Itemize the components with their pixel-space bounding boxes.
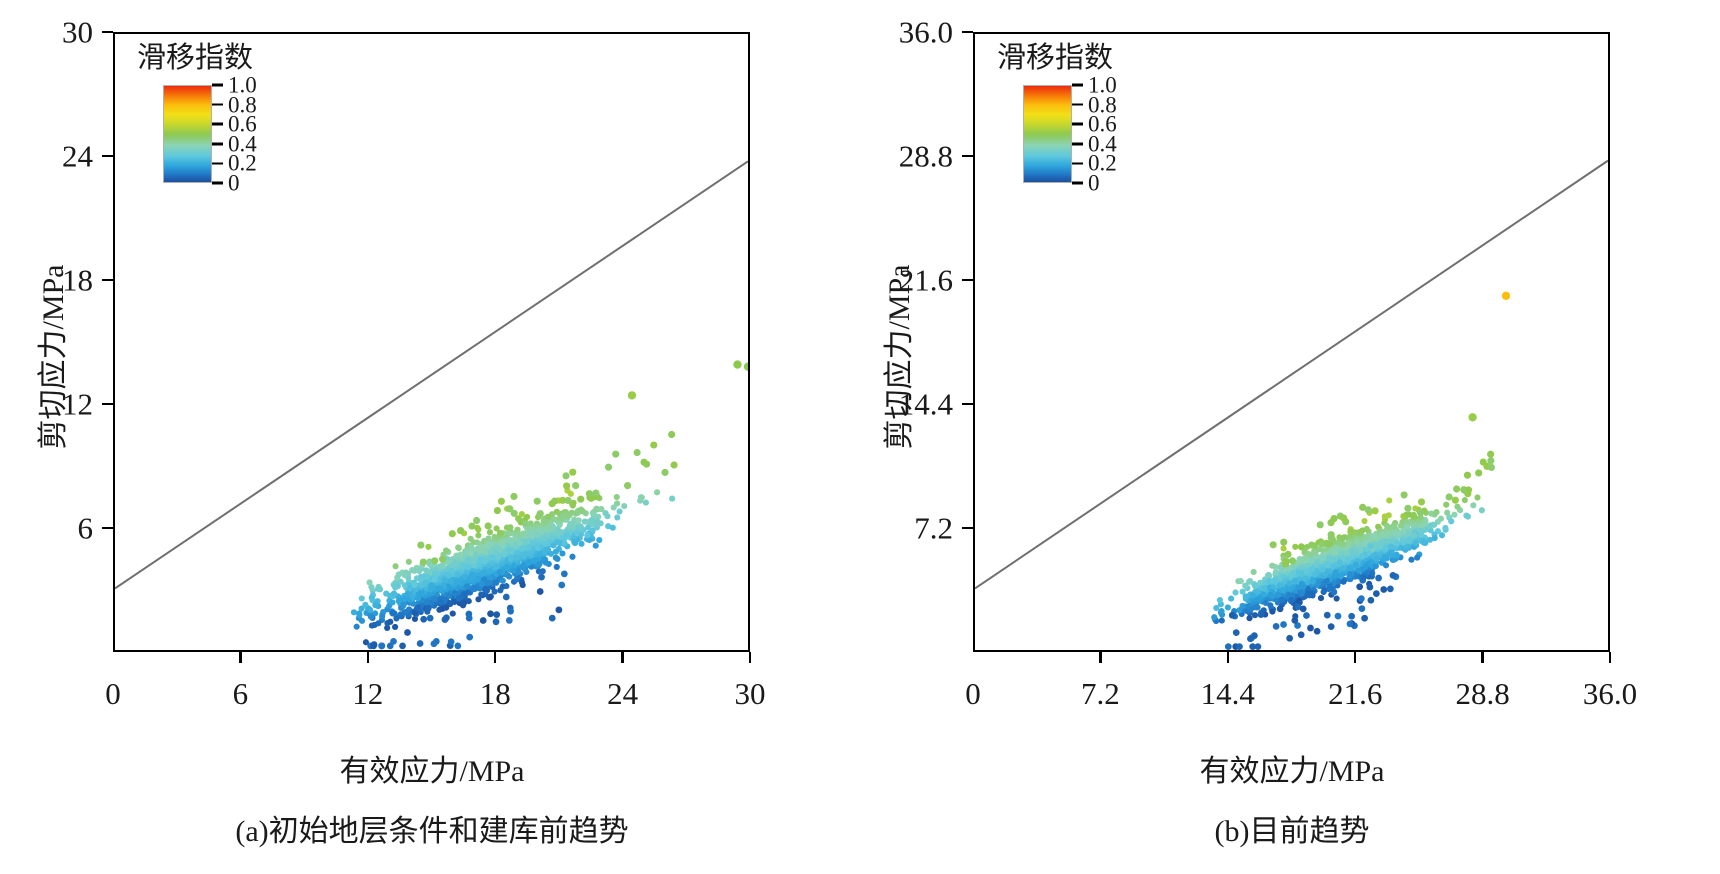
data-point [431,557,438,564]
colorbar-legend-a: 滑移指数 1.00.80.60.40.20 [133,44,343,183]
data-point [513,544,519,550]
data-point [577,496,584,503]
panel-b: 7.214.421.628.836.007.214.421.628.836.0 … [860,0,1720,874]
data-point [497,587,503,593]
data-point [475,526,481,532]
reference-line [115,161,748,588]
data-point [537,510,544,517]
data-point [549,500,556,507]
data-point [1252,604,1258,610]
data-point [569,469,576,476]
data-point [519,511,525,517]
data-point [1373,556,1379,562]
data-point [560,513,566,519]
colorbar-tick-mark [1072,84,1083,87]
data-point [1348,528,1354,534]
data-point [406,559,412,565]
x-tick-label: 0 [965,678,981,709]
data-point [404,629,411,636]
data-point [1367,584,1374,591]
data-point [478,556,484,562]
colorbar-tick-mark [212,123,223,126]
data-point [1385,530,1391,536]
data-point [1240,589,1246,595]
data-point [671,461,678,468]
data-point [605,464,612,471]
data-point [617,508,623,514]
data-point [540,568,546,574]
data-point [1432,535,1438,541]
data-point [1470,502,1476,508]
reference-line [975,161,1608,589]
data-point [369,595,375,601]
data-point [508,556,514,562]
data-point [389,610,396,617]
data-point [1270,541,1277,548]
x-tick-mark [1227,652,1230,663]
data-point [1285,592,1291,598]
data-point [1312,550,1318,556]
data-point [1332,549,1338,555]
x-tick-mark [621,652,624,663]
data-point [1229,612,1236,619]
data-point [598,506,604,512]
data-point [1252,612,1258,618]
data-point [1383,562,1389,568]
data-point [563,482,570,489]
data-point [427,615,434,622]
data-point [1359,577,1366,584]
data-point [497,530,504,537]
colorbar-wrap: 1.00.80.60.40.20 [993,85,1203,183]
data-point [1302,576,1308,582]
data-point [1305,590,1312,597]
data-point [1451,512,1457,518]
data-point [455,544,461,550]
data-point [417,542,424,549]
colorbar-wrap: 1.00.80.60.40.20 [133,85,343,183]
data-point [483,587,490,594]
outlier-point [733,360,741,368]
data-point [504,564,510,570]
data-point [1252,583,1258,589]
data-point [1305,551,1311,557]
data-point [443,605,449,611]
data-point [1332,556,1338,562]
data-point [621,503,627,509]
data-point [1228,596,1234,602]
data-point [1356,583,1363,590]
data-point [1487,451,1494,458]
data-point [391,590,397,596]
data-point [546,524,552,530]
data-point [464,583,470,589]
data-point [478,591,484,597]
colorbar-ticks: 1.00.80.60.40.20 [1072,85,1172,183]
data-point [1341,565,1347,571]
data-point [1335,613,1342,620]
data-point [398,611,404,617]
data-point [1236,643,1243,650]
data-point [443,614,450,621]
data-point [1288,597,1294,603]
data-point [1298,543,1305,550]
data-point [1386,497,1392,503]
data-point [1337,560,1343,566]
data-point [1346,539,1352,545]
data-point [1353,562,1359,568]
data-point [1405,531,1411,537]
data-point [1317,521,1324,528]
data-point [506,505,513,512]
data-point [594,520,600,526]
data-point [1286,580,1292,586]
data-point [570,525,576,531]
data-point [475,532,481,538]
data-point [481,569,487,575]
data-point [368,614,374,620]
data-point [389,599,395,605]
data-point [1392,530,1398,536]
data-point [1211,614,1217,620]
data-point [1488,464,1495,471]
data-point [1330,515,1337,522]
data-point [370,643,377,650]
y-tick-mark [962,31,973,34]
data-point [1442,525,1448,531]
data-point [1282,558,1289,565]
data-point [1439,532,1445,538]
data-point [1246,615,1252,621]
data-point [430,585,436,591]
data-point [390,638,397,645]
data-point [582,519,588,525]
figure-root: 6121824300612182430 滑移指数 1.00.80.60.40.2… [0,0,1720,874]
data-point [1314,628,1321,635]
x-tick-label: 6 [233,678,249,709]
data-point [1315,580,1321,586]
data-point [392,563,398,569]
data-point [1462,497,1468,503]
data-point [1333,569,1339,575]
data-point [537,588,544,595]
data-point [450,611,456,617]
data-point [1219,618,1225,624]
data-point [553,555,559,561]
data-point [611,504,617,510]
data-point [1388,543,1394,549]
data-point [506,574,512,580]
panel-a: 6121824300612182430 滑移指数 1.00.80.60.40.2… [0,0,860,874]
data-point [354,624,360,630]
data-point [1382,538,1388,544]
data-point [1418,531,1424,537]
data-point [549,615,556,622]
data-point [410,594,416,600]
data-point [1460,486,1467,493]
data-point [541,535,547,541]
data-point [1267,592,1273,598]
data-point [460,599,467,606]
data-point [431,640,438,647]
data-point [1269,563,1275,569]
y-tick-mark [102,403,113,406]
data-point [468,544,474,550]
data-point [1381,554,1387,560]
data-point [1356,568,1362,574]
data-point [624,482,631,489]
data-point [1479,507,1485,513]
data-point [650,441,657,448]
data-point [1284,551,1291,558]
data-point [520,531,526,537]
data-point [482,549,488,555]
data-point [1273,569,1279,575]
data-point [1265,572,1271,578]
data-point [1238,578,1244,584]
data-point [396,598,402,604]
data-point [1331,589,1338,596]
x-tick-label: 7.2 [1081,678,1120,709]
data-point [1320,566,1326,572]
data-point [1418,498,1425,505]
data-point [1354,539,1360,545]
data-point [359,618,365,624]
data-point [425,605,432,612]
data-point [545,546,551,552]
data-point [367,579,373,585]
data-point [1251,569,1257,575]
data-point [362,602,368,608]
data-point [1233,629,1240,636]
data-point [1303,612,1310,619]
x-tick-label: 28.8 [1455,678,1509,709]
x-tick-label: 24 [607,678,638,709]
data-point [1474,494,1480,500]
data-point [1242,583,1248,589]
data-point [1232,589,1238,595]
data-point [569,554,575,560]
data-point [392,584,398,590]
data-point [1391,523,1397,529]
data-point [521,554,527,560]
data-point [1338,573,1344,579]
y-tick-mark [102,527,113,530]
data-point [454,578,460,584]
data-point [612,451,619,458]
data-point [399,643,406,650]
data-point [1380,586,1387,593]
data-point [1358,547,1364,553]
data-point [1367,543,1373,549]
data-point [372,602,378,608]
x-tick-mark [494,652,497,663]
data-point [470,558,476,564]
data-point [578,507,584,513]
data-point [1328,623,1335,630]
data-point [545,514,551,520]
data-point [640,459,647,466]
data-point [1375,575,1382,582]
data-point [537,551,543,557]
data-point [1452,497,1459,504]
data-point [507,524,513,530]
data-point [493,611,500,618]
data-point [1334,595,1340,601]
data-point [457,527,464,534]
colorbar-tick-mark [212,162,223,165]
data-point [485,535,491,541]
y-tick-mark [962,527,973,530]
data-point [1319,555,1325,561]
data-point [515,569,521,575]
data-point [534,532,540,538]
data-point [468,536,474,542]
data-point [1411,532,1417,538]
data-point [1362,534,1368,540]
y-tick-label: 6 [0,513,93,544]
data-point [1218,608,1224,614]
data-point [561,570,568,577]
data-point [434,571,440,577]
data-point [1428,522,1434,528]
data-point [614,494,620,500]
data-point [387,619,393,625]
data-point [573,511,579,517]
data-point [1325,562,1331,568]
data-point [1340,579,1346,585]
scatter-outliers [628,360,748,399]
data-point [592,489,599,496]
y-axis-title-a: 剪切应力/MPa [28,247,72,467]
data-point [571,539,577,545]
data-point [1217,597,1223,603]
data-point [527,559,533,565]
data-point [1319,541,1325,547]
y-axis-title-b: 剪切应力/MPa [874,247,918,467]
data-point [378,643,385,650]
data-point [417,640,424,647]
data-point [1261,586,1267,592]
data-point [1255,643,1262,650]
data-point [1369,570,1375,576]
y-tick-mark [962,403,973,406]
data-point [1279,596,1285,602]
y-tick-mark [102,31,113,34]
data-point [506,617,513,624]
data-point [491,588,497,594]
x-tick-mark [1481,652,1484,663]
data-point [1346,573,1352,579]
data-point [449,530,456,537]
data-point [485,522,492,529]
data-point [538,574,545,581]
data-point [396,571,402,577]
data-point [1433,509,1439,515]
data-point [351,609,357,615]
data-point [1258,611,1265,618]
data-point [506,547,512,553]
data-point [634,449,641,456]
data-point [1275,592,1281,598]
x-tick-label: 18 [480,678,511,709]
colorbar-tick-mark [1072,143,1083,146]
data-point [1347,621,1354,628]
data-point [669,496,675,502]
data-point [1348,613,1355,620]
legend-title: 滑移指数 [133,44,343,73]
data-point [1487,457,1494,464]
data-point [402,596,408,602]
colorbar-tick-mark [1072,182,1083,185]
data-point [1324,612,1331,619]
data-point [1273,623,1280,630]
data-point [493,618,500,625]
data-point [1213,605,1219,611]
data-point [507,537,513,543]
data-point [584,532,590,538]
outlier-point [744,362,748,370]
data-point [1475,469,1482,476]
data-point [534,498,541,505]
data-point [1292,578,1298,584]
x-tick-mark [367,652,370,663]
data-point [556,606,563,613]
data-point [1408,557,1414,563]
data-point [414,605,421,612]
scatter-cluster [351,431,678,649]
data-point [1318,595,1324,601]
data-point [510,568,516,574]
data-point [514,554,520,560]
data-point [489,555,495,561]
data-point [496,569,502,575]
colorbar-tick-label: 0 [1088,172,1100,195]
data-point [1310,578,1316,584]
data-point [359,595,365,601]
data-point [466,615,473,622]
data-point [1344,550,1350,556]
data-point [527,550,533,556]
data-point [1247,578,1253,584]
outlier-point [628,391,636,399]
data-point [356,612,362,618]
data-point [1327,583,1333,589]
data-point [1401,491,1408,498]
data-point [1453,485,1460,492]
data-point [1225,604,1231,610]
colorbar-tick-mark [1072,162,1083,165]
data-point [512,535,518,541]
data-point [558,582,565,589]
y-tick-label: 24 [0,141,93,172]
data-point [1386,512,1392,518]
data-point [379,613,385,619]
data-point [1312,571,1318,577]
data-point [474,546,480,552]
data-point [489,541,495,547]
data-point [1394,552,1400,558]
data-point [1359,605,1366,612]
data-point [1308,541,1315,548]
data-point [596,537,602,543]
data-point [1307,625,1314,632]
y-tick-label: 28.8 [823,141,953,172]
data-point [557,521,563,527]
data-point [524,514,530,520]
data-point [1446,493,1453,500]
data-point [1365,506,1372,513]
